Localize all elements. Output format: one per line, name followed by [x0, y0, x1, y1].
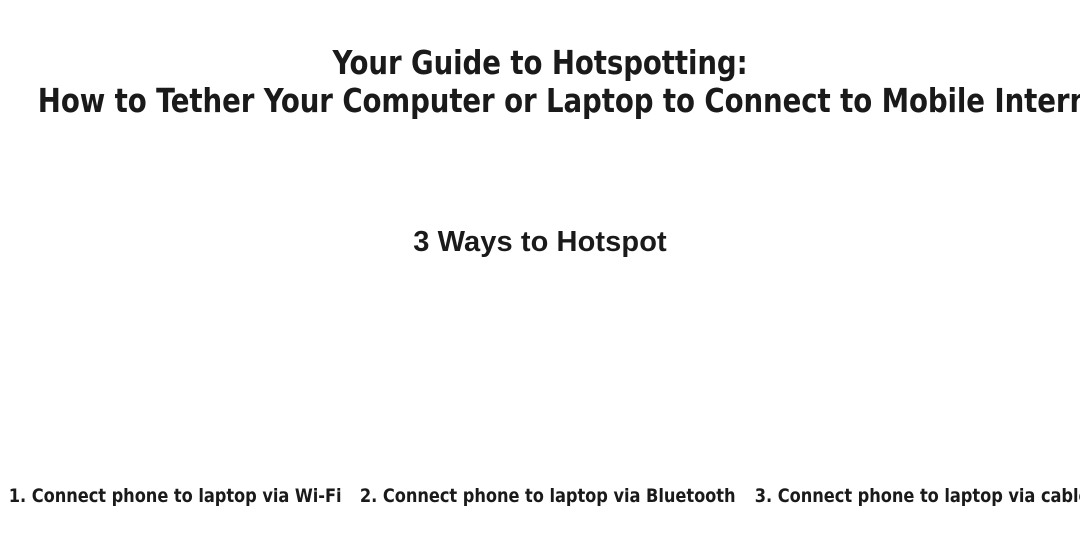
captions-row: 1. Connect phone to laptop via Wi-Fi 2. … — [0, 484, 1080, 508]
caption-method-3: 3. Connect phone to laptop via cable — [755, 484, 1080, 508]
illustration-cable — [720, 286, 1080, 476]
caption-method-2: 2. Connect phone to laptop via Bluetooth — [360, 484, 736, 508]
caption-method-1: 1. Connect phone to laptop via Wi-Fi — [9, 484, 342, 508]
page-title-line-2: How to Tether Your Computer or Laptop to… — [38, 82, 1042, 120]
illustration-bluetooth — [360, 286, 720, 476]
page-title-line-1: Your Guide to Hotspotting: — [38, 44, 1042, 82]
illustration-band — [0, 286, 1080, 476]
section-heading: 3 Ways to Hotspot — [0, 224, 1080, 260]
illustration-wifi — [0, 286, 360, 476]
page-title: Your Guide to Hotspotting: How to Tether… — [0, 44, 1080, 120]
infographic-page: Your Guide to Hotspotting: How to Tether… — [0, 0, 1080, 552]
